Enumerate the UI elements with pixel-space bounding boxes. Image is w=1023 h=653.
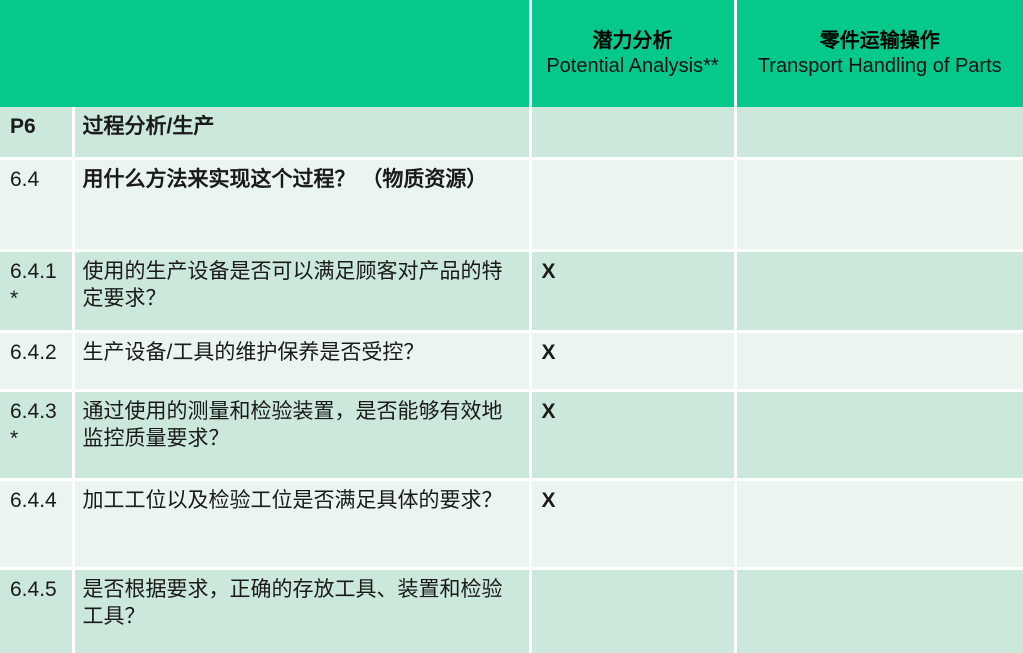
cell-transport-handling[interactable] (735, 159, 1023, 251)
header-transport-handling-en: Transport Handling of Parts (737, 54, 1023, 79)
row-number: 6.4.2 (0, 332, 73, 391)
row-question-text: 通过使用的测量和检验装置，是否能够有效地监控质量要求？ (73, 391, 530, 480)
row-number: 6.4.4 (0, 480, 73, 569)
row-number: 6.4.1 * (0, 251, 73, 332)
row-question-text: 加工工位以及检验工位是否满足具体的要求？ (73, 480, 530, 569)
table-row[interactable]: 6.4.2 生产设备/工具的维护保养是否受控？ X (0, 332, 1023, 391)
cell-transport-handling[interactable] (735, 569, 1023, 653)
header-blank-cell (0, 0, 530, 107)
header-transport-handling-cn: 零件运输操作 (737, 29, 1023, 54)
table-row[interactable]: 6.4.3 * 通过使用的测量和检验装置，是否能够有效地监控质量要求？ X (0, 391, 1023, 480)
cell-potential-analysis[interactable] (530, 107, 735, 159)
table-body: P6 过程分析/生产 6.4 用什么方法来实现这个过程？ （物质资源） 6.4.… (0, 107, 1023, 653)
cell-potential-analysis[interactable]: X (530, 391, 735, 480)
row-number: 6.4.5 (0, 569, 73, 653)
table-row[interactable]: 6.4 用什么方法来实现这个过程？ （物质资源） (0, 159, 1023, 251)
row-question-text: 使用的生产设备是否可以满足顾客对产品的特定要求？ (73, 251, 530, 332)
audit-matrix-table: 潜力分析 Potential Analysis** 零件运输操作 Transpo… (0, 0, 1023, 653)
row-number: 6.4.3 * (0, 391, 73, 480)
cell-transport-handling[interactable] (735, 251, 1023, 332)
table-row[interactable]: 6.4.5 是否根据要求，正确的存放工具、装置和检验工具？ (0, 569, 1023, 653)
cell-potential-analysis[interactable] (530, 569, 735, 653)
header-potential-analysis-cn: 潜力分析 (532, 29, 734, 54)
cell-potential-analysis[interactable]: X (530, 480, 735, 569)
header-column-potential-analysis[interactable]: 潜力分析 Potential Analysis** (530, 0, 735, 107)
table-row[interactable]: 6.4.4 加工工位以及检验工位是否满足具体的要求？ X (0, 480, 1023, 569)
cell-transport-handling[interactable] (735, 480, 1023, 569)
row-number: P6 (0, 107, 73, 159)
table-row[interactable]: P6 过程分析/生产 (0, 107, 1023, 159)
row-question-text: 生产设备/工具的维护保养是否受控？ (73, 332, 530, 391)
cell-potential-analysis[interactable]: X (530, 251, 735, 332)
table-header: 潜力分析 Potential Analysis** 零件运输操作 Transpo… (0, 0, 1023, 107)
row-question-text: 过程分析/生产 (73, 107, 530, 159)
cell-transport-handling[interactable] (735, 391, 1023, 480)
cell-potential-analysis[interactable] (530, 159, 735, 251)
cell-potential-analysis[interactable]: X (530, 332, 735, 391)
header-row: 潜力分析 Potential Analysis** 零件运输操作 Transpo… (0, 0, 1023, 107)
cell-transport-handling[interactable] (735, 332, 1023, 391)
header-column-transport-handling[interactable]: 零件运输操作 Transport Handling of Parts (735, 0, 1023, 107)
header-potential-analysis-en: Potential Analysis** (532, 54, 734, 79)
row-question-text: 是否根据要求，正确的存放工具、装置和检验工具？ (73, 569, 530, 653)
table-row[interactable]: 6.4.1 * 使用的生产设备是否可以满足顾客对产品的特定要求？ X (0, 251, 1023, 332)
cell-transport-handling[interactable] (735, 107, 1023, 159)
checklist-sheet: 潜力分析 Potential Analysis** 零件运输操作 Transpo… (0, 0, 1023, 572)
row-number: 6.4 (0, 159, 73, 251)
row-question-text: 用什么方法来实现这个过程？ （物质资源） (73, 159, 530, 251)
